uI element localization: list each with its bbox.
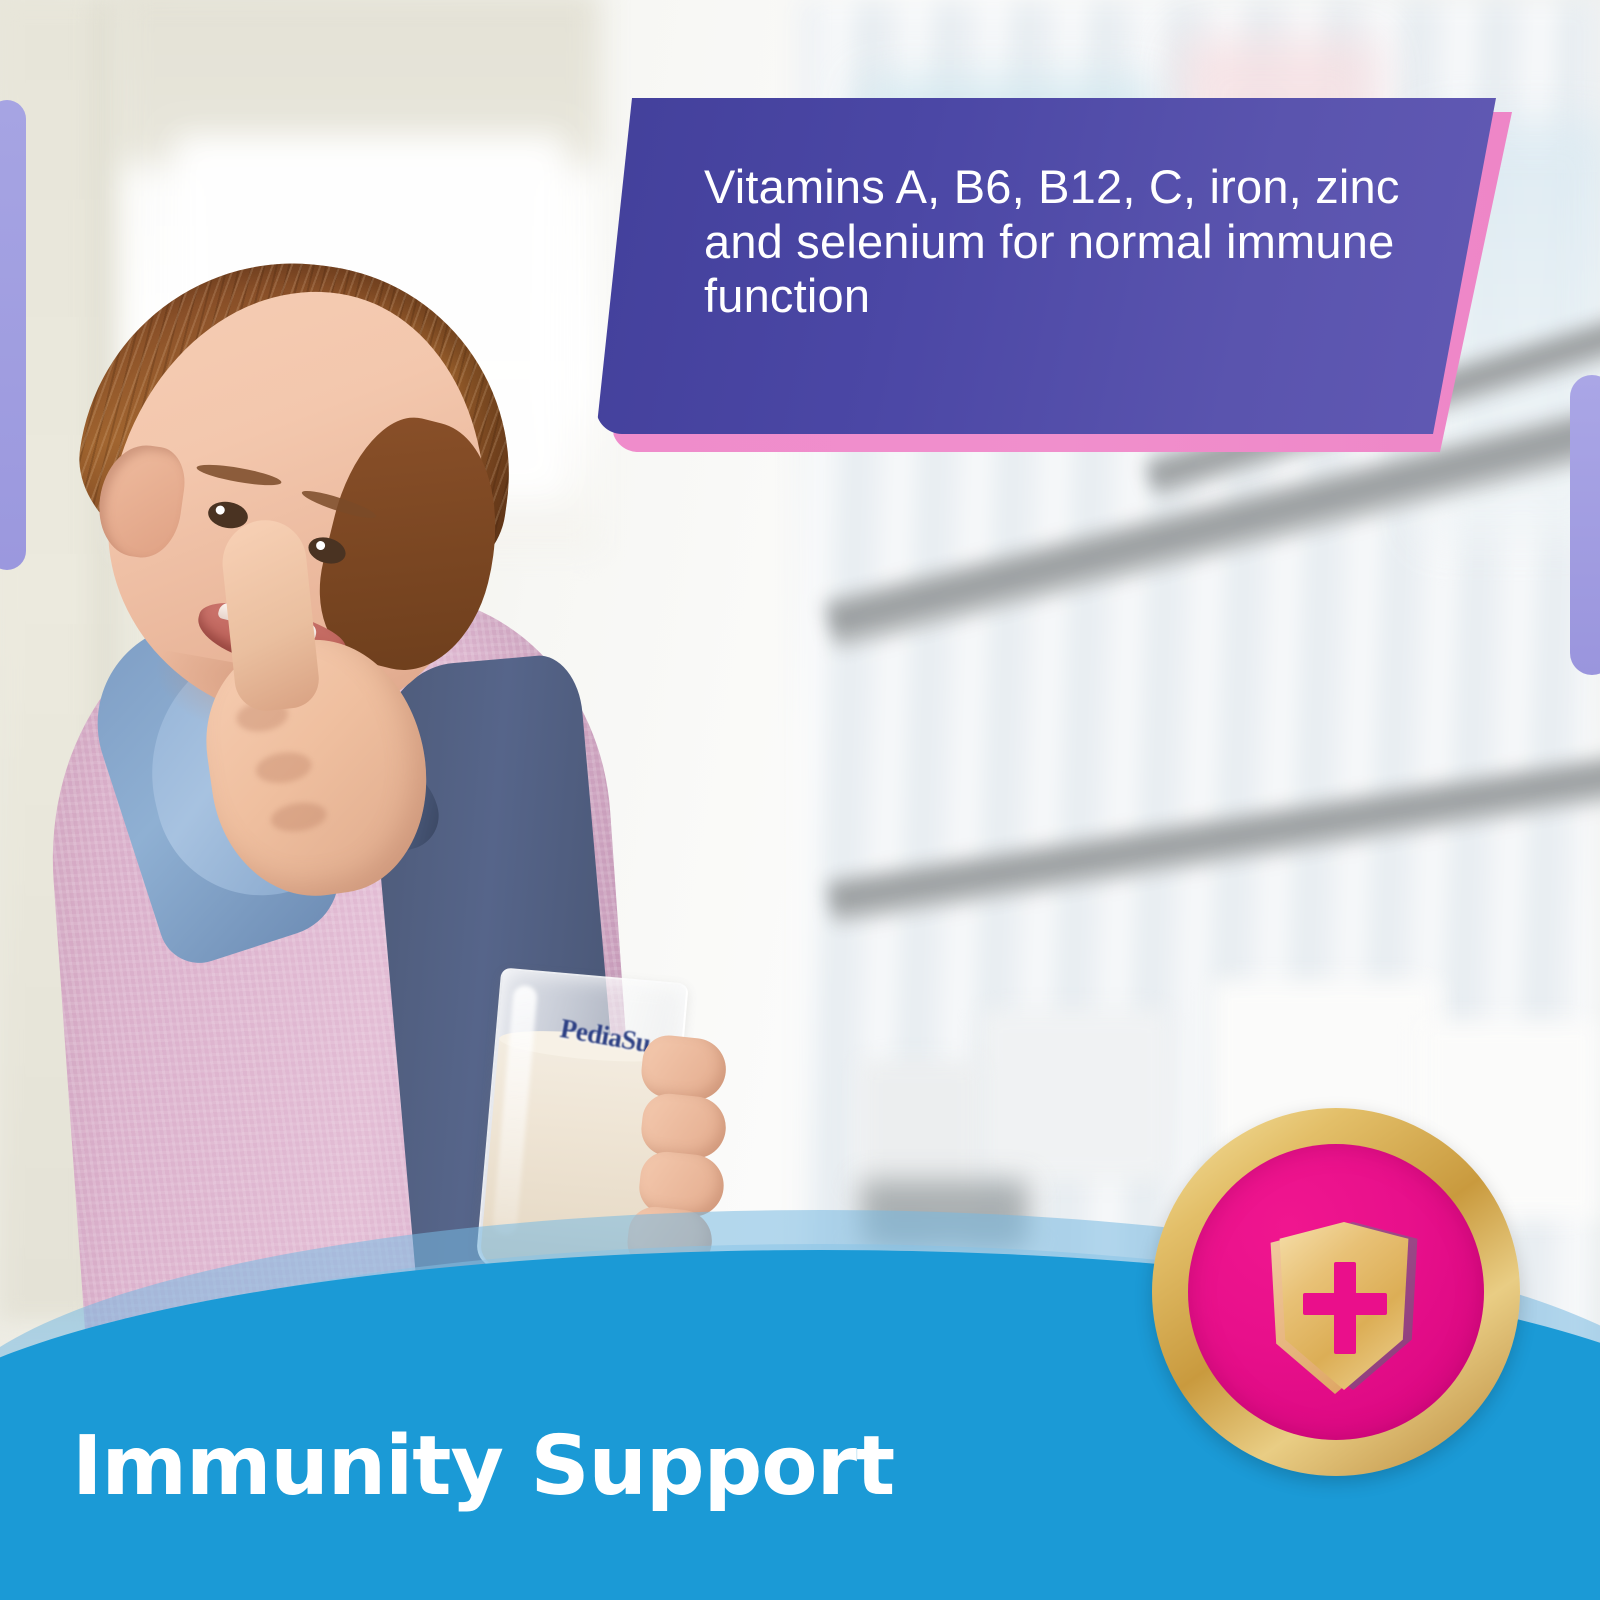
banner-panel: Vitamins A, B6, B12, C, iron, zinc and s… xyxy=(596,98,1496,434)
knuckle-b xyxy=(254,749,314,787)
plus-horizontal xyxy=(1303,1293,1387,1315)
headline-banner: Vitamins A, B6, B12, C, iron, zinc and s… xyxy=(596,98,1516,458)
shield-plus-icon xyxy=(1274,1222,1414,1390)
knuckle-c xyxy=(269,799,328,835)
shelf-box-c xyxy=(980,1010,1170,1180)
immunity-badge xyxy=(1152,1108,1520,1476)
eye-highlight-left xyxy=(215,505,225,515)
eye-highlight-right xyxy=(315,540,326,551)
footer-title: Immunity Support xyxy=(72,1419,894,1514)
badge-disc xyxy=(1188,1144,1484,1440)
finger-2 xyxy=(639,1091,729,1161)
promo-banner-canvas: PediaSu Vitamins A, B6, B12, C, iron, zi… xyxy=(0,0,1600,1600)
banner-headline-text: Vitamins A, B6, B12, C, iron, zinc and s… xyxy=(704,160,1444,324)
finger-1 xyxy=(639,1033,729,1103)
decor-bar-right xyxy=(1570,375,1600,675)
